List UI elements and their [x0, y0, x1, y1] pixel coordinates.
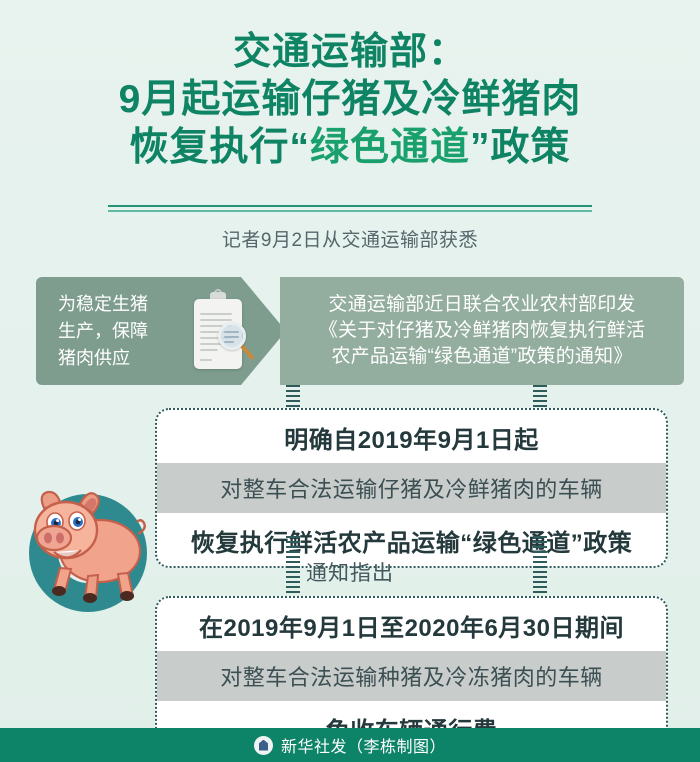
title-line-3: 恢复执行“绿色通道”政策: [0, 124, 700, 172]
pig-mascot-illustration: [14, 472, 164, 622]
policy-box-2-title: 在2019年9月1日至2020年6月30日期间: [157, 598, 666, 651]
divider-line-top: [108, 205, 592, 207]
source-right-text: 交通运输部近日联合农业农村部印发 《关于对仔猪及冷鲜猪肉恢复执行鲜活 农产品运输…: [319, 292, 645, 370]
page-title: 交通运输部： 9月起运输仔猪及冷鲜猪肉 恢复执行“绿色通道”政策: [0, 28, 700, 172]
title-line-1: 交通运输部：: [0, 28, 700, 76]
policy-box-2-band: 对整车合法运输种猪及冷冻猪肉的车辆: [157, 651, 666, 701]
title-line-3-part-a: 恢复执行“: [129, 126, 310, 169]
source-right-line-1: 交通运输部近日联合农业农村部印发: [319, 292, 645, 318]
title-line-2: 9月起运输仔猪及冷鲜猪肉: [0, 76, 700, 124]
title-divider: [108, 205, 592, 212]
title-highlight-green-channel: 绿色通道: [310, 126, 470, 169]
subtitle: 记者9月2日从交通运输部获悉: [0, 225, 700, 252]
infographic-page: 交通运输部： 9月起运输仔猪及冷鲜猪肉 恢复执行“绿色通道”政策 记者9月2日从…: [0, 0, 700, 762]
xinhua-logo-icon: [254, 736, 273, 755]
source-right-panel: 交通运输部近日联合农业农村部印发 《关于对仔猪及冷鲜猪肉恢复执行鲜活 农产品运输…: [280, 277, 684, 385]
policy-box-1: 明确自2019年9月1日起 对整车合法运输仔猪及冷鲜猪肉的车辆 恢复执行鲜活农产…: [155, 408, 668, 568]
clipboard-magnifier-icon: [188, 289, 250, 373]
policy-box-1-band: 对整车合法运输仔猪及冷鲜猪肉的车辆: [157, 463, 666, 513]
title-line-3-part-c: ”政策: [470, 126, 571, 169]
policy-box-1-title: 明确自2019年9月1日起: [157, 410, 666, 463]
source-right-line-2: 《关于对仔猪及冷鲜猪肉恢复执行鲜活: [319, 318, 645, 344]
source-left-text: 为稳定生猪生产，保障猪肉供应: [36, 291, 156, 372]
source-right-line-3: 农产品运输“绿色通道”政策的通知》: [319, 344, 645, 370]
source-row: 为稳定生猪生产，保障猪肉供应 交通运输部近日联合农业农村部印发 《关于对仔猪及冷…: [36, 277, 684, 385]
footer-bar: 新华社发（李栋制图）: [0, 728, 700, 762]
footer-credit: 新华社发（李栋制图）: [281, 733, 446, 757]
divider-line-bottom: [108, 210, 592, 212]
